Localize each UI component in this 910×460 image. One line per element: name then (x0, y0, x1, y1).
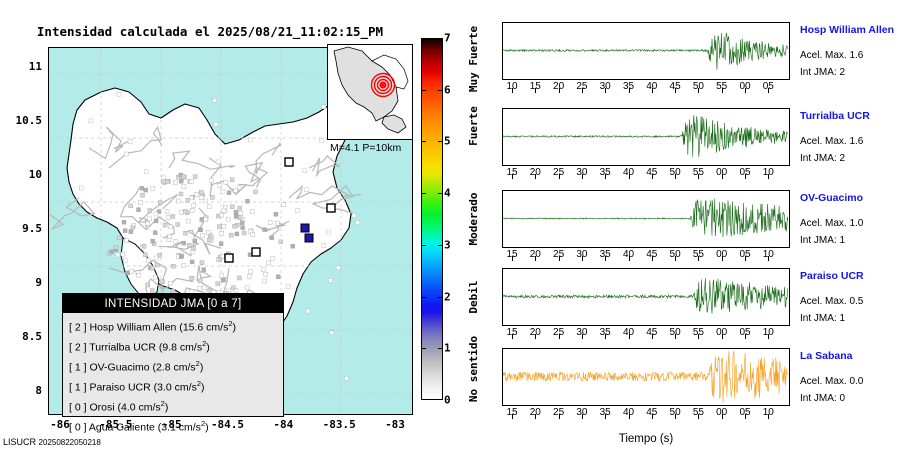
time-tick-label: 50 (670, 407, 681, 418)
time-tick-label: 35 (600, 407, 611, 418)
unit-exponent: 2 (161, 399, 165, 408)
colorbar-tick-mark (421, 90, 443, 91)
station-name[interactable]: Paraiso UCR (800, 270, 910, 282)
map-y-tick: 11 (29, 60, 42, 73)
colorbar-tick-label: 0 (444, 394, 451, 407)
unit-exponent: 2 (201, 419, 205, 428)
legend-jma-value: [ 2 ] (69, 342, 87, 354)
map-y-tick: 9.5 (22, 222, 42, 235)
seismogram-panels: Tiempo (s) 101520253035404550550005Hosp … (495, 0, 910, 460)
intensity-legend: INTENSIDAD JMA [0 a 7] [ 2 ] Hosp Willia… (62, 293, 284, 417)
time-tick-label: 15 (506, 327, 517, 338)
seismogram-plot[interactable] (502, 190, 790, 248)
seismic-intensity-report: Intensidad calculada el 2025/08/21_11:02… (0, 0, 910, 460)
inset-map-svg (328, 45, 412, 139)
station-jma-intensity: Int JMA: 1 (800, 235, 910, 246)
time-tick-label: 55 (693, 249, 704, 260)
time-tick-label: 35 (600, 167, 611, 178)
time-tick-label: 25 (553, 249, 564, 260)
colorbar-tick-mark (421, 245, 443, 246)
time-tick-label: 10 (763, 407, 774, 418)
time-tick-label: 50 (693, 81, 704, 92)
time-tick-label: 20 (530, 407, 541, 418)
time-tick-label: 20 (530, 327, 541, 338)
legend-row: [ 2 ] Hosp William Allen (15.6 cm/s2) (69, 316, 283, 336)
map-y-tick: 10.5 (16, 114, 43, 127)
time-tick-label: 05 (739, 327, 750, 338)
time-tick-label: 15 (530, 81, 541, 92)
map-x-tick: -83 (385, 418, 405, 431)
time-tick-label: 40 (623, 249, 634, 260)
seismogram-time-axis: 152025303540455055000510 (502, 408, 790, 424)
time-tick-label: 45 (646, 167, 657, 178)
time-tick-label: 05 (739, 249, 750, 260)
legend-header: INTENSIDAD JMA [0 a 7] (63, 294, 283, 313)
legend-station-name: Hosp William Allen (89, 322, 176, 334)
time-tick-label: 30 (576, 167, 587, 178)
legend-row: [ 0 ] Orosi (4.0 cm/s2) (69, 396, 283, 416)
time-tick-label: 10 (763, 167, 774, 178)
time-tick-label: 35 (623, 81, 634, 92)
colorbar-tick-label: 6 (444, 83, 451, 96)
time-tick-label: 10 (506, 81, 517, 92)
time-tick-label: 45 (646, 407, 657, 418)
time-tick-label: 05 (739, 167, 750, 178)
legend-row: [ 0 ] Agua Caliente (3.1 cm/s2) (69, 416, 283, 436)
legend-station-name: Paraiso UCR (89, 382, 150, 394)
unit-exponent: 2 (228, 319, 232, 328)
station-max-accel: Acel. Max. 0.0 (800, 376, 910, 387)
time-tick-label: 05 (763, 81, 774, 92)
time-tick-label: 55 (693, 407, 704, 418)
legend-rows: [ 2 ] Hosp William Allen (15.6 cm/s2)[ 2… (63, 313, 283, 436)
legend-station-name: Turrialba UCR (89, 342, 156, 354)
seismogram-time-axis: 152025303540455055000510 (502, 168, 790, 184)
seismogram-plot[interactable] (502, 108, 790, 166)
map-y-tick: 9 (35, 276, 42, 289)
legend-accel-value: 2.8 cm/s (156, 362, 196, 374)
seismogram-meta: OV-GuacimoAcel. Max. 1.0Int JMA: 1 (800, 190, 910, 246)
footer-timestamp: 20250822050218 (39, 438, 101, 447)
colorbar-tick-mark (421, 141, 443, 142)
event-magnitude-label: M=4.1 P=10km (330, 142, 401, 154)
colorbar-tick-label: 2 (444, 290, 451, 303)
station-max-accel: Acel. Max. 1.6 (800, 136, 910, 147)
station-name[interactable]: OV-Guacimo (800, 192, 910, 204)
map-y-axis: 1110.5109.598.58 (0, 0, 46, 460)
time-tick-label: 10 (763, 249, 774, 260)
time-tick-label: 40 (623, 327, 634, 338)
legend-accel-value: 9.8 cm/s (162, 342, 202, 354)
legend-jma-value: [ 1 ] (69, 362, 87, 374)
legend-row: [ 1 ] Paraiso UCR (3.0 cm/s2) (69, 376, 283, 396)
colorbar-category-label: No sentido (467, 336, 480, 402)
map-y-tick: 10 (29, 168, 42, 181)
station-name[interactable]: La Sabana (800, 350, 910, 362)
time-tick-label: 50 (670, 167, 681, 178)
time-tick-label: 00 (716, 407, 727, 418)
legend-jma-value: [ 2 ] (69, 322, 87, 334)
time-tick-label: 55 (693, 327, 704, 338)
colorbar-category-label: Moderado (467, 193, 480, 246)
time-tick-label: 45 (670, 81, 681, 92)
time-tick-label: 25 (553, 167, 564, 178)
colorbar-tick-mark (421, 348, 443, 349)
legend-row: [ 1 ] OV-Guacimo (2.8 cm/s2) (69, 356, 283, 376)
time-tick-label: 45 (646, 327, 657, 338)
legend-jma-value: [ 1 ] (69, 382, 87, 394)
map-title: Intensidad calculada el 2025/08/21_11:02… (0, 24, 420, 39)
colorbar-tick-mark (421, 297, 443, 298)
legend-accel-value: 3.1 cm/s (161, 422, 201, 434)
time-tick-label: 50 (670, 249, 681, 260)
time-tick-label: 30 (600, 81, 611, 92)
inset-locator-map[interactable] (327, 44, 413, 140)
time-tick-label: 25 (576, 81, 587, 92)
map-y-tick: 8.5 (22, 330, 42, 343)
station-name[interactable]: Turrialba UCR (800, 110, 910, 122)
unit-exponent: 2 (202, 339, 206, 348)
seismogram-meta: Turrialba UCRAcel. Max. 1.6Int JMA: 2 (800, 108, 910, 164)
time-tick-label: 20 (530, 249, 541, 260)
colorbar-tick-label: 7 (444, 32, 451, 45)
unit-exponent: 2 (197, 379, 201, 388)
legend-accel-value: 15.6 cm/s (183, 322, 229, 334)
time-tick-label: 00 (716, 167, 727, 178)
intensity-colorbar: 01234567No sentidoDebilModeradoFuerteMuy… (421, 38, 491, 420)
map-x-tick: -83.5 (323, 418, 356, 431)
map-panel: Intensidad calculada el 2025/08/21_11:02… (0, 0, 470, 460)
time-tick-label: 25 (553, 407, 564, 418)
time-tick-label: 35 (600, 249, 611, 260)
legend-station-name: Orosi (89, 402, 114, 414)
time-tick-label: 30 (576, 249, 587, 260)
time-tick-label: 15 (506, 167, 517, 178)
legend-station-name: Agua Caliente (89, 422, 155, 434)
time-tick-label: 45 (646, 249, 657, 260)
station-jma-intensity: Int JMA: 2 (800, 67, 910, 78)
colorbar-tick-label: 5 (444, 135, 451, 148)
legend-row: [ 2 ] Turrialba UCR (9.8 cm/s2) (69, 336, 283, 356)
time-tick-label: 30 (576, 327, 587, 338)
legend-station-name: OV-Guacimo (89, 362, 149, 374)
colorbar-tick-label: 4 (444, 187, 451, 200)
time-axis-label: Tiempo (s) (502, 433, 790, 445)
station-jma-intensity: Int JMA: 0 (800, 393, 910, 404)
time-tick-label: 05 (739, 407, 750, 418)
legend-jma-value: [ 0 ] (69, 422, 87, 434)
unit-exponent: 2 (196, 359, 200, 368)
seismogram-meta: La SabanaAcel. Max. 0.0Int JMA: 0 (800, 348, 910, 404)
legend-accel-value: 3.0 cm/s (157, 382, 197, 394)
seismogram-meta: Paraiso UCRAcel. Max. 0.5Int JMA: 1 (800, 268, 910, 324)
time-tick-label: 20 (553, 81, 564, 92)
seismogram-plot[interactable] (502, 22, 790, 80)
colorbar-tick-mark (421, 193, 443, 194)
station-jma-intensity: Int JMA: 2 (800, 153, 910, 164)
station-max-accel: Acel. Max. 0.5 (800, 296, 910, 307)
time-tick-label: 35 (600, 327, 611, 338)
time-tick-label: 40 (623, 167, 634, 178)
legend-jma-value: [ 0 ] (69, 402, 87, 414)
station-name[interactable]: Hosp William Allen (800, 24, 910, 36)
time-tick-label: 40 (646, 81, 657, 92)
time-tick-label: 00 (716, 249, 727, 260)
seismogram-plot[interactable] (502, 348, 790, 406)
station-max-accel: Acel. Max. 1.0 (800, 218, 910, 229)
time-tick-label: 00 (739, 81, 750, 92)
seismogram-time-axis: 152025303540455055000510 (502, 250, 790, 266)
seismogram-meta: Hosp William AllenAcel. Max. 1.6Int JMA:… (800, 22, 910, 78)
station-max-accel: Acel. Max. 1.6 (800, 50, 910, 61)
colorbar-tick-label: 3 (444, 238, 451, 251)
seismogram-plot[interactable] (502, 268, 790, 326)
time-tick-label: 20 (530, 167, 541, 178)
colorbar-tick-label: 1 (444, 342, 451, 355)
colorbar-gradient (421, 38, 443, 400)
footer-agency: LISUCR (3, 437, 36, 447)
time-tick-label: 40 (623, 407, 634, 418)
time-tick-label: 00 (716, 327, 727, 338)
time-tick-label: 25 (553, 327, 564, 338)
time-tick-label: 55 (716, 81, 727, 92)
legend-accel-value: 4.0 cm/s (121, 402, 161, 414)
time-tick-label: 50 (670, 327, 681, 338)
footer-credit: LISUCR 20250822050218 (3, 437, 101, 447)
time-tick-label: 55 (693, 167, 704, 178)
station-jma-intensity: Int JMA: 1 (800, 313, 910, 324)
colorbar-category-label: Debil (467, 280, 480, 313)
seismogram-time-axis: 101520253035404550550005 (502, 82, 790, 98)
colorbar-category-label: Fuerte (467, 106, 480, 146)
time-tick-label: 15 (506, 407, 517, 418)
time-tick-label: 10 (763, 327, 774, 338)
seismogram-time-axis: 152025303540455055000510 (502, 328, 790, 344)
map-y-tick: 8 (35, 384, 42, 397)
time-tick-label: 15 (506, 249, 517, 260)
time-tick-label: 30 (576, 407, 587, 418)
colorbar-category-label: Muy Fuerte (467, 26, 480, 92)
